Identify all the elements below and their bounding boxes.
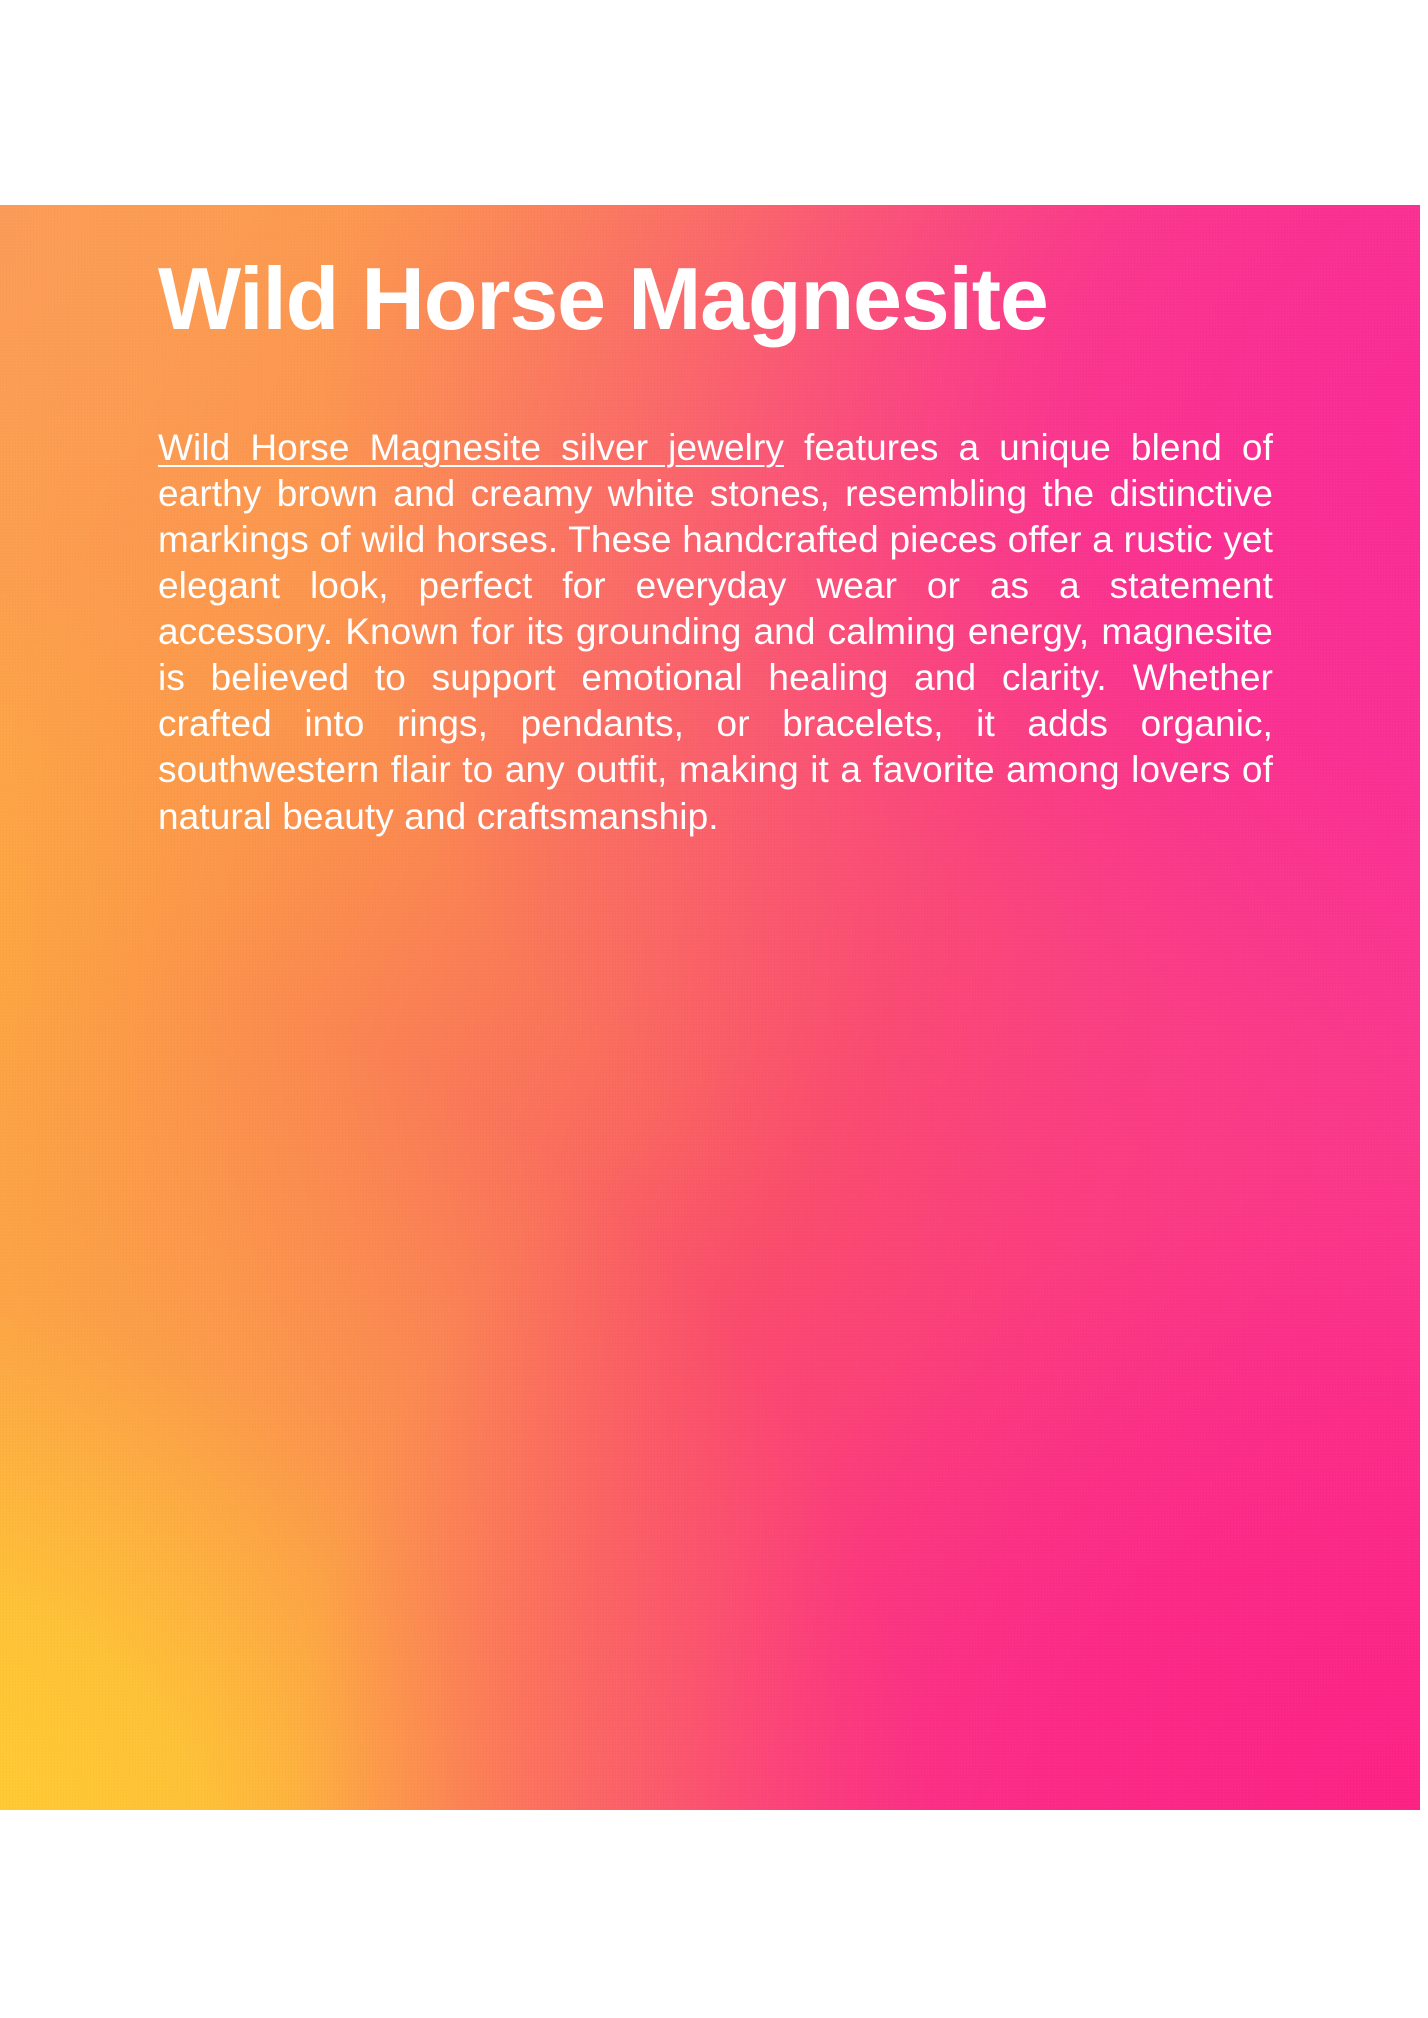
- wild-horse-magnesite-silver-jewelry-link[interactable]: Wild Horse Magnesite silver jewelry: [158, 427, 784, 468]
- article-body-text: features a unique blend of earthy brown …: [158, 427, 1273, 837]
- article-body: Wild Horse Magnesite silver jewelry feat…: [158, 425, 1273, 840]
- page-title: Wild Horse Magnesite: [158, 252, 1428, 345]
